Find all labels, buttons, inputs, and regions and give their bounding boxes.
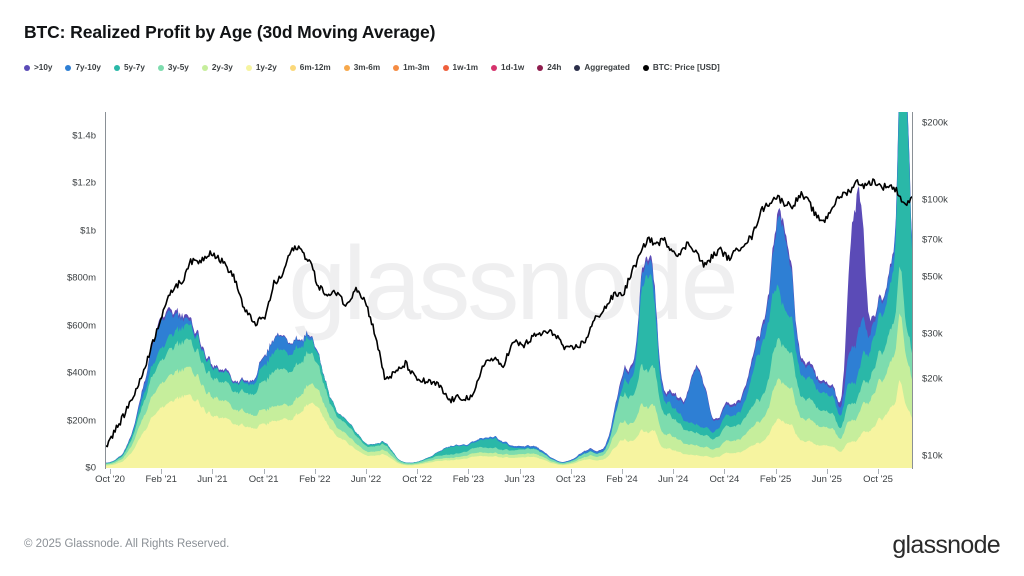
chart-legend: >10y7y-10y5y-7y3y-5y2y-3y1y-2y6m-12m3m-6… [24,63,733,72]
legend-item-btc-price-usd[interactable]: BTC: Price [USD] [643,63,720,72]
x-axis-tick-label: Oct '24 [709,474,739,485]
right-axis-tick-label: $20k [922,374,992,385]
x-axis-tick-mark [468,469,469,474]
right-axis-line [912,112,913,469]
x-axis-tick-label: Feb '24 [606,474,637,485]
x-axis-tick-mark [315,469,316,474]
x-axis-tick-label: Feb '21 [145,474,176,485]
right-axis-tick-label: $100k [922,194,992,205]
legend-item-label: 5y-7y [124,63,145,72]
legend-item-label: 1w-1m [453,63,478,72]
legend-item-label: Aggregated [584,63,630,72]
legend-item-label: 3m-6m [354,63,380,72]
legend-item-3m-6m[interactable]: 3m-6m [344,63,380,72]
chart-canvas [106,112,912,468]
legend-item-1w-1m[interactable]: 1w-1m [443,63,478,72]
legend-swatch-icon [24,65,30,71]
legend-swatch-icon [114,65,120,71]
legend-item-label: 24h [547,63,561,72]
legend-item-3y-5y[interactable]: 3y-5y [158,63,189,72]
x-axis-tick-label: Oct '23 [556,474,586,485]
right-axis-tick-label: $10k [922,451,992,462]
x-axis-tick-mark [417,469,418,474]
x-axis-tick-mark [673,469,674,474]
glassnode-logo: glassnode [892,531,1000,560]
x-axis-tick-label: Jun '22 [351,474,381,485]
legend-swatch-icon [246,65,252,71]
x-axis-tick-label: Oct '25 [863,474,893,485]
x-axis-tick-label: Jun '24 [658,474,688,485]
legend-item-label: BTC: Price [USD] [653,63,720,72]
legend-swatch-icon [443,65,449,71]
left-axis-tick-label: $1.4b [26,130,96,141]
legend-item-label: 3y-5y [168,63,189,72]
legend-swatch-icon [537,65,543,71]
legend-item-6m-12m[interactable]: 6m-12m [290,63,331,72]
legend-swatch-icon [643,65,649,71]
right-axis-tick-label: $70k [922,234,992,245]
legend-item-aggregated[interactable]: Aggregated [574,63,630,72]
legend-item-1d-1w[interactable]: 1d-1w [491,63,524,72]
legend-item-1m-3m[interactable]: 1m-3m [393,63,429,72]
legend-item-2y-3y[interactable]: 2y-3y [202,63,233,72]
right-axis-tick-label: $200k [922,117,992,128]
x-axis-tick-label: Feb '25 [760,474,791,485]
chart-page: BTC: Realized Profit by Age (30d Moving … [0,0,1024,576]
legend-swatch-icon [65,65,71,71]
plot-area [106,112,912,468]
legend-swatch-icon [574,65,580,71]
x-axis-tick-mark [776,469,777,474]
x-axis-tick-label: Oct '21 [249,474,279,485]
legend-item-7y-10y[interactable]: 7y-10y [65,63,101,72]
left-axis-tick-label: $0 [26,463,96,474]
legend-swatch-icon [491,65,497,71]
legend-swatch-icon [202,65,208,71]
legend-item-5y-7y[interactable]: 5y-7y [114,63,145,72]
x-axis-tick-mark [161,469,162,474]
left-axis-tick-label: $600m [26,320,96,331]
left-axis-tick-label: $1.2b [26,178,96,189]
x-axis-tick-label: Oct '22 [402,474,432,485]
page-title: BTC: Realized Profit by Age (30d Moving … [24,22,435,43]
left-axis-tick-label: $1b [26,225,96,236]
left-axis-tick-label: $800m [26,273,96,284]
x-axis-tick-label: Jun '23 [504,474,534,485]
legend-item-label: 1y-2y [256,63,277,72]
x-axis-tick-label: Jun '21 [197,474,227,485]
legend-item-label: 6m-12m [300,63,331,72]
x-axis-tick-mark [366,469,367,474]
legend-item-10y[interactable]: >10y [24,63,52,72]
copyright-text: © 2025 Glassnode. All Rights Reserved. [24,538,229,550]
legend-swatch-icon [393,65,399,71]
x-axis-tick-label: Oct '20 [95,474,125,485]
legend-item-label: 2y-3y [212,63,233,72]
legend-item-24h[interactable]: 24h [537,63,561,72]
legend-item-label: 1d-1w [501,63,524,72]
right-axis-tick-label: $50k [922,272,992,283]
x-axis-tick-mark [520,469,521,474]
x-axis-tick-mark [264,469,265,474]
x-axis-tick-label: Jun '25 [812,474,842,485]
x-axis-tick-mark [878,469,879,474]
right-axis-tick-label: $30k [922,328,992,339]
x-axis-tick-mark [571,469,572,474]
x-axis-tick-label: Feb '22 [299,474,330,485]
x-axis-tick-label: Feb '23 [453,474,484,485]
x-axis-tick-mark [110,469,111,474]
left-axis-tick-label: $200m [26,415,96,426]
x-axis-tick-mark [724,469,725,474]
x-axis-tick-mark [827,469,828,474]
legend-swatch-icon [344,65,350,71]
legend-swatch-icon [290,65,296,71]
legend-item-label: 1m-3m [403,63,429,72]
legend-item-label: >10y [34,63,52,72]
legend-item-1y-2y[interactable]: 1y-2y [246,63,277,72]
x-axis-tick-mark [212,469,213,474]
left-axis-tick-label: $400m [26,368,96,379]
x-axis-tick-mark [622,469,623,474]
legend-item-label: 7y-10y [75,63,101,72]
legend-swatch-icon [158,65,164,71]
